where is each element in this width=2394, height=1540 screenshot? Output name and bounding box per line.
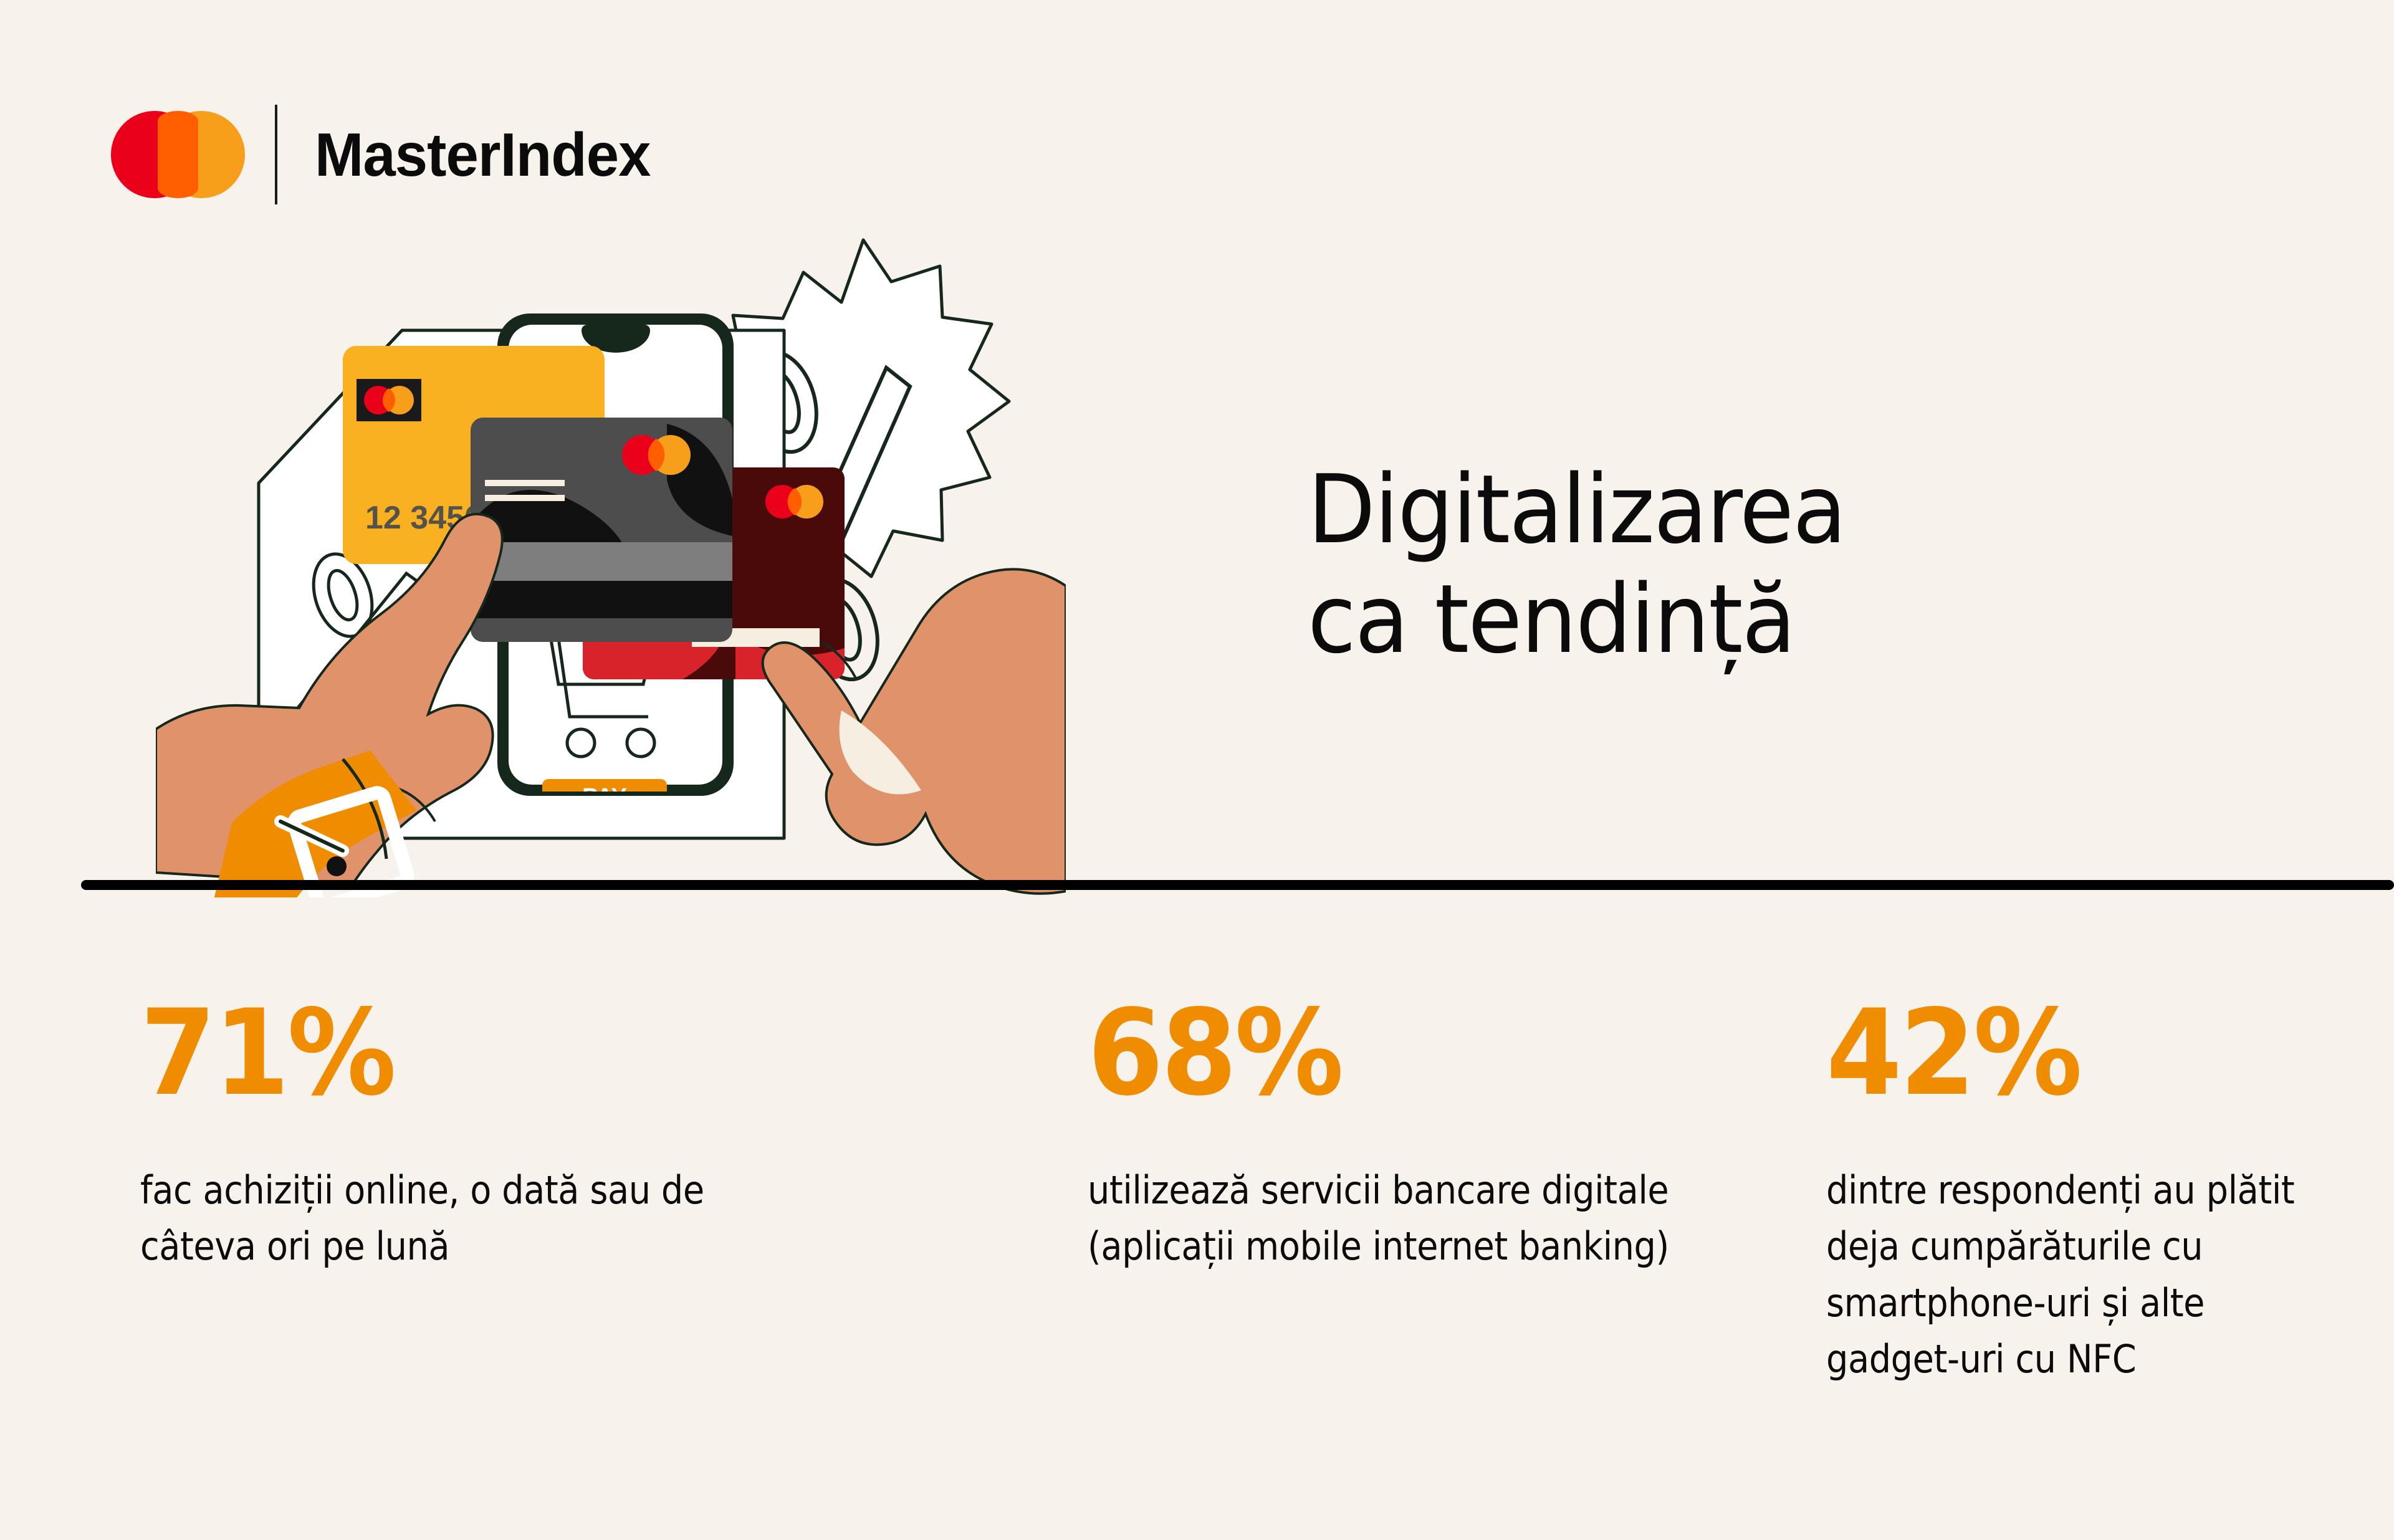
stat-description-1: fac achiziții online, o dată sau de câte… bbox=[140, 1162, 788, 1275]
brand-header: MasterIndex bbox=[111, 105, 664, 204]
page-title: Digitalizarea ca tendință bbox=[1308, 455, 1846, 675]
page-title-line-2: ca tendință bbox=[1308, 565, 1846, 674]
stat-card-1: 71% fac achiziții online, o dată sau de … bbox=[115, 997, 885, 1388]
mastercard-overlap-shape bbox=[158, 111, 198, 198]
brand-divider bbox=[275, 105, 277, 204]
section-divider bbox=[81, 880, 2394, 890]
stat-value-2: 68% bbox=[1088, 997, 1712, 1110]
gray-card bbox=[471, 418, 732, 642]
brand-name: MasterIndex bbox=[315, 120, 650, 190]
stat-description-3: dintre respondenți au plătit deja cumpăr… bbox=[1826, 1162, 2315, 1388]
stat-value-1: 71% bbox=[140, 997, 803, 1110]
mastercard-logo-icon bbox=[111, 111, 245, 198]
card-mastercard-logo-icon bbox=[364, 386, 414, 414]
red-card-mastercard-logo-icon bbox=[765, 485, 823, 519]
stats-row: 71% fac achiziții online, o dată sau de … bbox=[0, 997, 2394, 1388]
stat-description-2: utilizează servicii bancare digitale (ap… bbox=[1088, 1162, 1698, 1275]
page-title-line-1: Digitalizarea bbox=[1308, 455, 1846, 565]
stat-card-3: 42% dintre respondenți au plătit deja cu… bbox=[1801, 997, 2394, 1388]
gray-card-mastercard-logo-icon bbox=[622, 435, 691, 475]
stat-value-3: 42% bbox=[1826, 997, 2326, 1110]
card-line-2 bbox=[485, 495, 565, 501]
card-line-1 bbox=[485, 480, 565, 486]
hero-illustration: PAY 12 34567 8 00**** bbox=[156, 237, 1066, 897]
stat-card-2: 68% utilizează servicii bancare digitale… bbox=[1063, 997, 1791, 1388]
